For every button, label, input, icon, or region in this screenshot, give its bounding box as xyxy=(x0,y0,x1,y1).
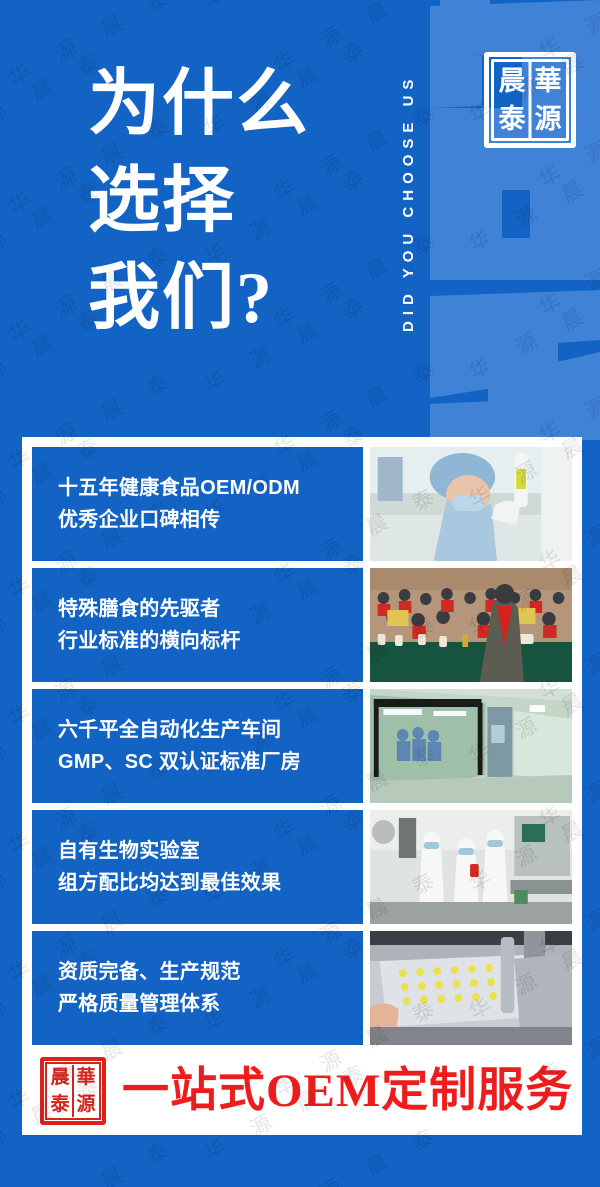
feature-line-1: 资质完备、生产规范 xyxy=(58,956,363,988)
feature-row: 十五年健康食品OEM/ODM 优秀企业口碑相传 xyxy=(32,447,572,561)
lab-technician-photo-icon xyxy=(370,447,572,561)
feature-line-2: GMP、SC 双认证标准厂房 xyxy=(58,746,363,778)
vertical-subtitle: DID YOU CHOOSE US xyxy=(400,8,434,398)
feature-card[interactable]: 自有生物实验室 组方配比均达到最佳效果 xyxy=(32,810,363,924)
seal-char-3: 泰 xyxy=(494,100,530,138)
feature-thumbnail xyxy=(370,447,572,561)
seal-char-1: 晨 xyxy=(47,1064,73,1091)
cleanroom-corridor-photo-icon xyxy=(370,689,572,803)
poster-header: 为什么 选择 我们? DID YOU CHOOSE US 晨 華 泰 源 xyxy=(0,0,600,437)
seal-char-1: 晨 xyxy=(494,62,530,100)
feature-line-1: 十五年健康食品OEM/ODM xyxy=(58,472,363,504)
feature-card[interactable]: 特殊膳食的先驱者 行业标准的横向标杆 xyxy=(32,568,363,682)
page-title: 为什么 选择 我们? xyxy=(88,56,310,348)
seal-divider xyxy=(72,1065,74,1117)
brand-seal-bottom: 晨 華 泰 源 xyxy=(40,1057,106,1125)
feature-line-2: 行业标准的横向标杆 xyxy=(58,625,363,657)
footer-banner: 晨 華 泰 源 一站式OEM定制服务 xyxy=(32,1053,572,1129)
feature-thumbnail xyxy=(370,931,572,1045)
feature-thumbnail xyxy=(370,568,572,682)
feature-card[interactable]: 资质完备、生产规范 严格质量管理体系 xyxy=(32,931,363,1045)
feature-row: 六千平全自动化生产车间 GMP、SC 双认证标准厂房 xyxy=(32,689,572,803)
blister-packaging-photo-icon xyxy=(370,931,572,1045)
feature-line-2: 组方配比均达到最佳效果 xyxy=(58,867,363,899)
feature-thumbnail xyxy=(370,810,572,924)
title-line-2: 选择 xyxy=(88,153,310,250)
seal-char-4: 源 xyxy=(73,1091,99,1118)
production-line-workers-photo-icon xyxy=(370,810,572,924)
feature-thumbnail xyxy=(370,689,572,803)
feature-line-2: 严格质量管理体系 xyxy=(58,988,363,1020)
feature-row: 自有生物实验室 组方配比均达到最佳效果 xyxy=(32,810,572,924)
seal-char-2: 華 xyxy=(73,1064,99,1091)
feature-card[interactable]: 六千平全自动化生产车间 GMP、SC 双认证标准厂房 xyxy=(32,689,363,803)
seal-char-3: 泰 xyxy=(47,1091,73,1118)
feature-card[interactable]: 十五年健康食品OEM/ODM 优秀企业口碑相传 xyxy=(32,447,363,561)
feature-row: 资质完备、生产规范 严格质量管理体系 xyxy=(32,931,572,1045)
title-line-1: 为什么 xyxy=(88,56,310,153)
title-line-3: 我们? xyxy=(88,250,310,347)
feature-line-2: 优秀企业口碑相传 xyxy=(58,504,363,536)
seal-char-4: 源 xyxy=(530,100,566,138)
seal-divider xyxy=(529,62,532,138)
features-panel: 十五年健康食品OEM/ODM 优秀企业口碑相传 xyxy=(22,437,582,1135)
feature-row: 特殊膳食的先驱者 行业标准的横向标杆 xyxy=(32,568,572,682)
brand-seal-top: 晨 華 泰 源 xyxy=(484,52,576,148)
feature-line-1: 特殊膳食的先驱者 xyxy=(58,593,363,625)
footer-headline: 一站式OEM定制服务 xyxy=(122,1068,573,1115)
poster-root: 为什么 选择 我们? DID YOU CHOOSE US 晨 華 泰 源 十五年… xyxy=(0,0,600,1187)
feature-line-1: 六千平全自动化生产车间 xyxy=(58,714,363,746)
seal-char-2: 華 xyxy=(530,62,566,100)
conference-audience-photo-icon xyxy=(370,568,572,682)
feature-rows: 十五年健康食品OEM/ODM 优秀企业口碑相传 xyxy=(32,447,572,1045)
feature-line-1: 自有生物实验室 xyxy=(58,835,363,867)
